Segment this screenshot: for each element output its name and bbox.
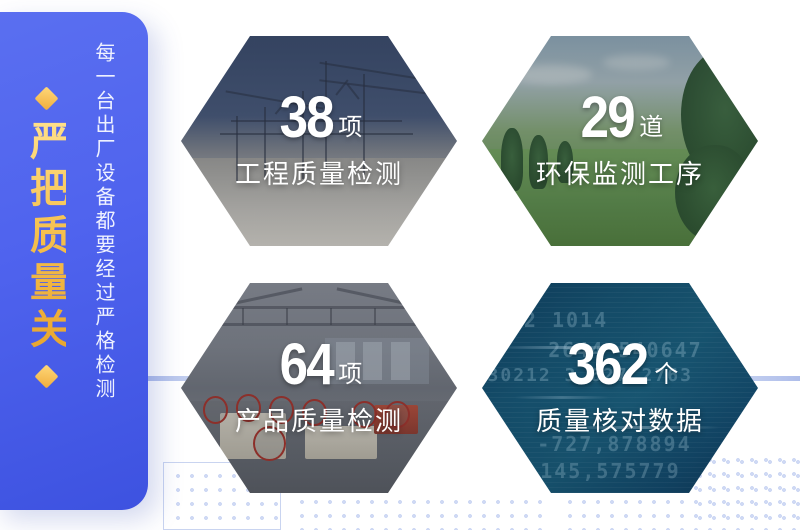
hex-content-3: 64 项 产品质量检测 <box>181 283 457 493</box>
diamond-icon-top <box>34 86 58 110</box>
hex-number-2: 29 <box>580 91 633 144</box>
headline-group: 严把质量关 <box>18 90 74 440</box>
dot-field-center <box>292 492 542 530</box>
panel-inner: 严把质量关 每一台出厂设备都要经过严格检测 <box>0 12 148 510</box>
hex-label-2: 环保监测工序 <box>536 154 704 191</box>
hex-stat-row-2: 29 道 <box>577 91 664 144</box>
hex-number-4: 362 <box>567 338 647 391</box>
hex-content-2: 29 道 环保监测工序 <box>482 36 758 246</box>
hex-card-1[interactable]: 38 项 工程质量检测 <box>181 36 457 246</box>
panel-subtext: 每一台出厂设备都要经过严格检测 <box>90 42 115 502</box>
panel-headline: 严把质量关 <box>26 120 66 355</box>
hex-stat-row-4: 362 个 <box>562 338 679 391</box>
hex-unit-2: 道 <box>639 116 663 145</box>
hex-unit-1: 项 <box>338 116 362 145</box>
hex-number-3: 64 <box>279 338 332 391</box>
diamond-icon-bottom <box>34 364 58 388</box>
hex-card-4[interactable]: 692 1014 2644 540647 30212 3 627 2763 -7… <box>482 283 758 493</box>
hex-label-4: 质量核对数据 <box>536 401 704 438</box>
hex-number-1: 38 <box>279 91 332 144</box>
left-blue-panel: 严把质量关 每一台出厂设备都要经过严格检测 <box>0 12 148 510</box>
hex-stat-row-3: 64 项 <box>276 338 363 391</box>
hex-label-3: 产品质量检测 <box>235 401 403 438</box>
hex-card-3[interactable]: 64 项 产品质量检测 <box>181 283 457 493</box>
poster-canvas: 严把质量关 每一台出厂设备都要经过严格检测 38 <box>0 0 800 530</box>
hex-unit-4: 个 <box>654 363 678 392</box>
hex-stat-row-1: 38 项 <box>276 91 363 144</box>
hex-unit-3: 项 <box>338 363 362 392</box>
hex-label-1: 工程质量检测 <box>235 154 403 191</box>
hex-card-2[interactable]: 29 道 环保监测工序 <box>482 36 758 246</box>
hex-content-1: 38 项 工程质量检测 <box>181 36 457 246</box>
hex-content-4: 362 个 质量核对数据 <box>482 283 758 493</box>
